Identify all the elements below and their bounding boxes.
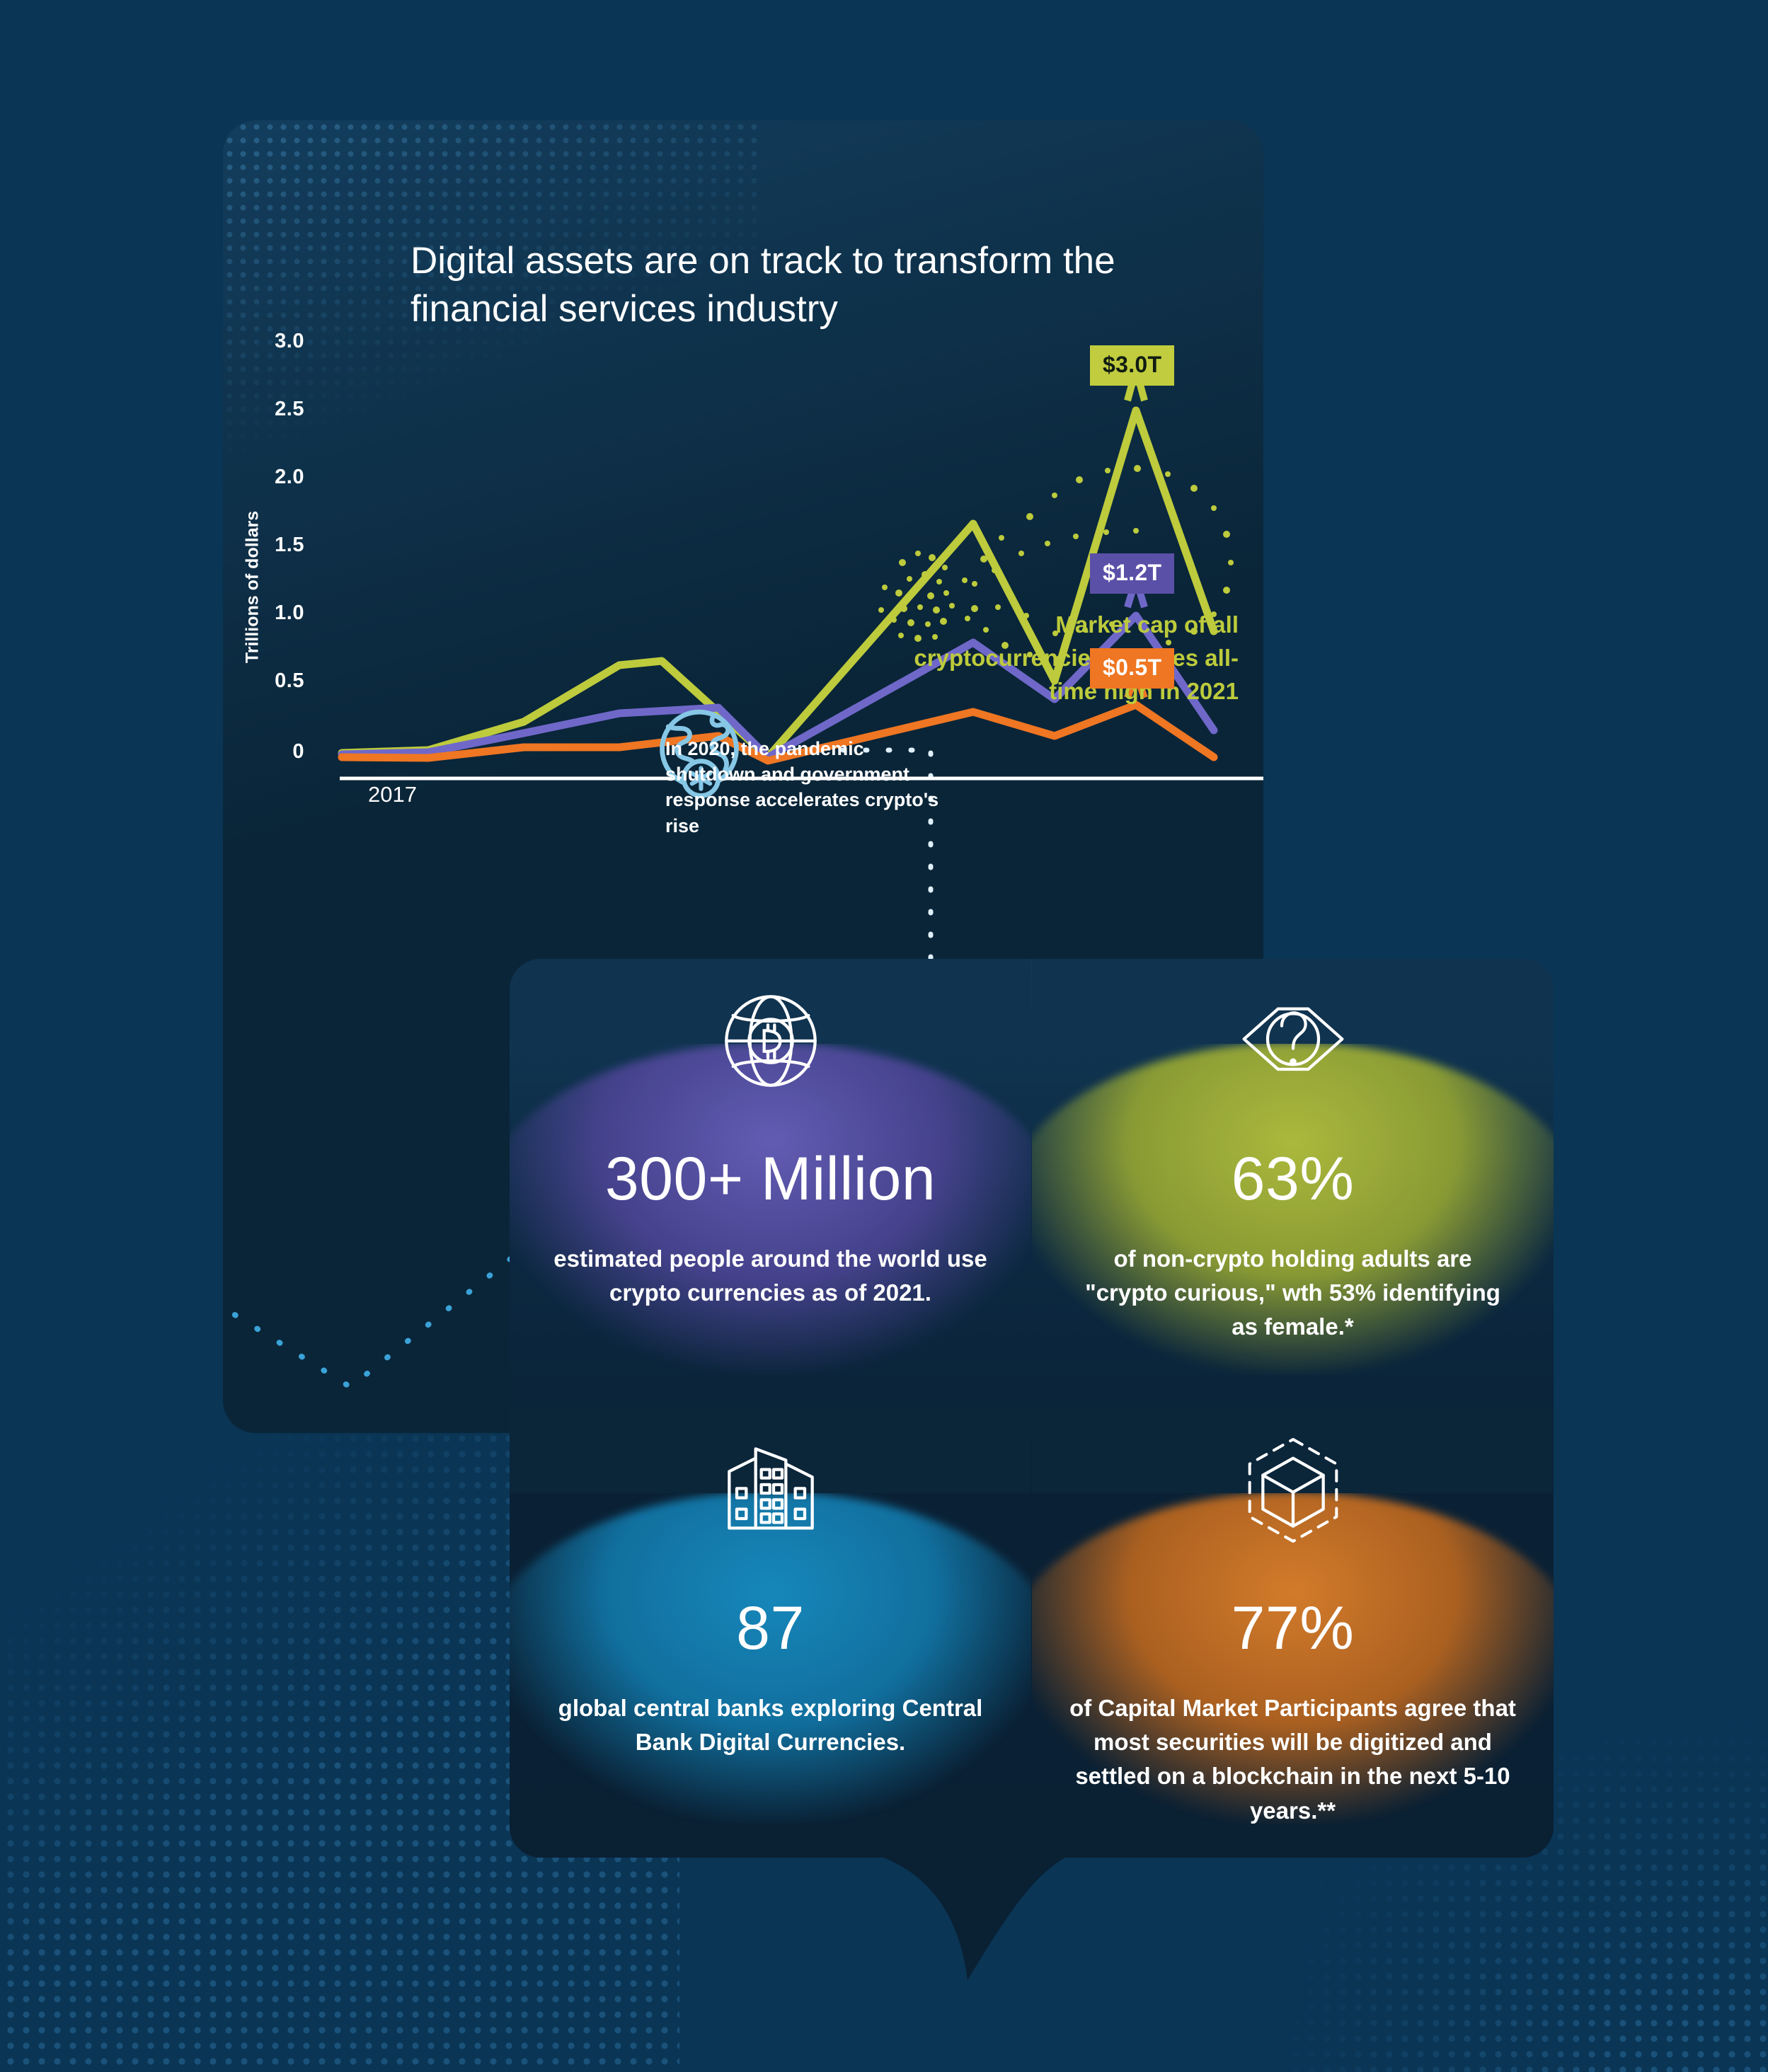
y-axis-tick-0: 0 bbox=[223, 740, 304, 764]
tile-stat-value: 63% bbox=[1032, 1149, 1554, 1209]
speech-bubble-tail bbox=[817, 1840, 1115, 1981]
tile-description: of Capital Market Participants agree tha… bbox=[1060, 1691, 1527, 1828]
x-axis-tick-2017: 2017 bbox=[368, 782, 417, 807]
dotted-v-decoration bbox=[223, 1245, 527, 1387]
y-axis-tick-1.0: 1.0 bbox=[223, 602, 304, 625]
blockchain-cube-icon bbox=[1236, 1434, 1350, 1547]
tile-stat-value: 87 bbox=[510, 1598, 1031, 1659]
stats-card: 300+ Million estimated people around the… bbox=[510, 959, 1554, 1858]
y-axis-tick-3.0: 3.0 bbox=[223, 330, 304, 353]
tile-stat-value: 77% bbox=[1032, 1598, 1554, 1659]
value-badge-all-cryptocurrencies: $3.0T bbox=[1090, 345, 1174, 386]
y-axis-tick-2.5: 2.5 bbox=[223, 398, 304, 421]
stat-tile-87[interactable]: 87 global central banks exploring Centra… bbox=[510, 1408, 1031, 1858]
tile-description: global central banks exploring Central B… bbox=[551, 1691, 990, 1759]
pandemic-annotation-text: In 2020, the pandemic shutdown and gover… bbox=[665, 736, 941, 839]
stat-tile-300-million[interactable]: 300+ Million estimated people around the… bbox=[510, 959, 1031, 1408]
y-axis-tick-0.5: 0.5 bbox=[223, 669, 304, 693]
y-axis-tick-1.5: 1.5 bbox=[223, 534, 304, 557]
stat-tile-77-percent[interactable]: 77% of Capital Market Participants agree… bbox=[1032, 1408, 1554, 1858]
tile-description: of non-crypto holding adults are "crypto… bbox=[1074, 1242, 1512, 1345]
value-badge-etherium: $0.5T bbox=[1090, 648, 1174, 689]
value-badge-bitcoin: $1.2T bbox=[1090, 553, 1174, 594]
y-axis-tick-2.0: 2.0 bbox=[223, 466, 304, 489]
globe-bitcoin-icon bbox=[714, 984, 827, 1098]
tile-description: estimated people around the world use cr… bbox=[551, 1242, 990, 1310]
stat-tile-63-percent[interactable]: 63% of non-crypto holding adults are "cr… bbox=[1032, 959, 1554, 1408]
tile-stat-value: 300+ Million bbox=[510, 1149, 1031, 1209]
infographic-root: Digital assets are on track to transform… bbox=[0, 0, 1768, 2072]
eye-question-icon bbox=[1236, 984, 1350, 1098]
market-cap-annotation-text: Market cap of all cryptocurrencies reach… bbox=[895, 609, 1239, 708]
bank-building-icon bbox=[714, 1434, 827, 1547]
y-axis-label: Trillions of dollars bbox=[243, 481, 263, 693]
